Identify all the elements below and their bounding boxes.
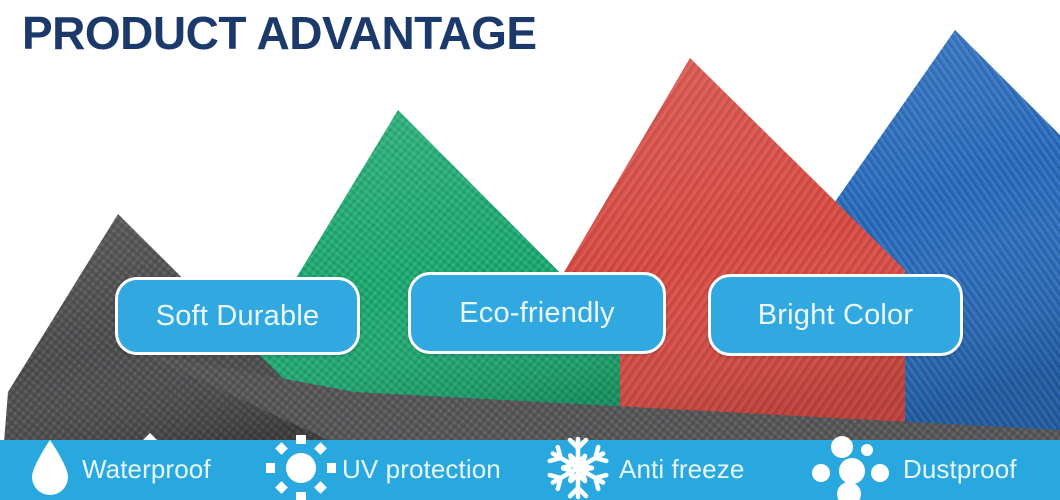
feature-pill-label: Eco-friendly [459, 297, 615, 330]
feature-item-label: Anti freeze [619, 456, 744, 484]
feature-pill-label: Soft Durable [156, 300, 320, 333]
feature-pill-soft-durable[interactable]: Soft Durable [115, 277, 360, 355]
feature-pill-label: Bright Color [758, 299, 914, 332]
product-advantage-banner: PRODUCT ADVANTAGE Soft Durable Eco-frien… [0, 0, 1060, 500]
feature-item-label: Waterproof [82, 456, 211, 484]
feature-pill-bright-color[interactable]: Bright Color [708, 274, 963, 356]
page-title: PRODUCT ADVANTAGE [22, 8, 537, 59]
feature-item-dustproof[interactable]: Dustproof [805, 440, 1017, 500]
feature-item-waterproof[interactable]: Waterproof [28, 440, 211, 500]
water-drop-icon [28, 438, 72, 496]
feature-item-anti-freeze[interactable]: Anti freeze [545, 440, 744, 500]
product-sheets-stage [0, 0, 1060, 500]
feature-item-label: UV protection [342, 456, 501, 484]
snowflake-icon [545, 437, 611, 499]
feature-item-uv-protection[interactable]: UV protection [266, 440, 501, 500]
dust-particles-icon [805, 435, 901, 500]
feature-pill-eco-friendly[interactable]: Eco-friendly [408, 272, 666, 354]
feature-item-label: Dustproof [903, 456, 1017, 484]
sun-icon [266, 435, 336, 500]
